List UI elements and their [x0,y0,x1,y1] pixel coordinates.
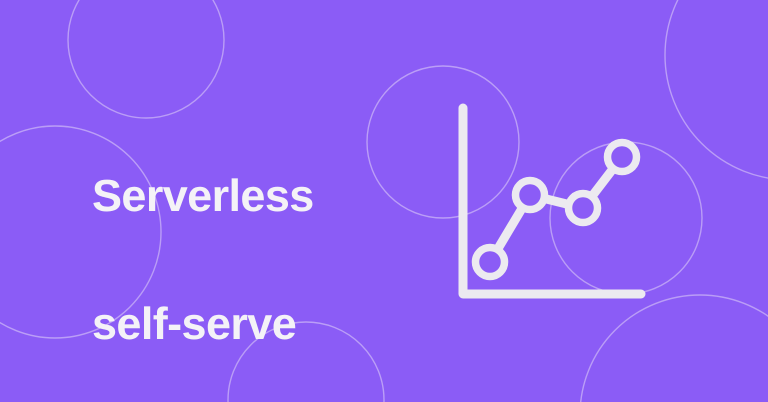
headline-line-1: Serverless [92,164,392,228]
chart-node-2 [516,181,545,210]
line-chart-icon [440,95,660,310]
headline: Serverless self-serve analytics. [92,100,392,402]
chart-node-1 [476,248,505,277]
chart-node-4 [608,143,637,172]
headline-line-2: self-serve [92,292,392,356]
chart-node-3 [569,194,598,223]
promo-banner: Serverless self-serve analytics. [0,0,768,402]
chart-line-segments [490,157,622,262]
